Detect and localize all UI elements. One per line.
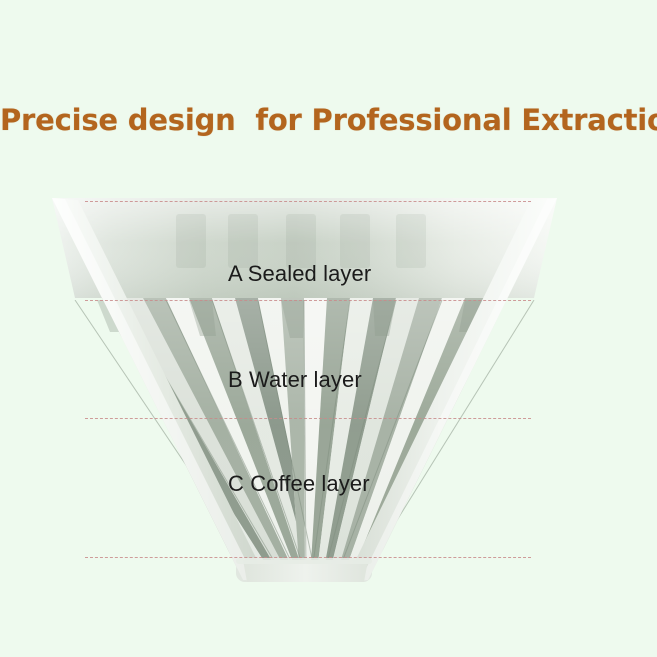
guide-line-sealed-water-boundary — [85, 300, 531, 301]
cone-graphic — [0, 0, 657, 657]
layer-label-c: C Coffee layer — [228, 471, 370, 497]
coffee-cone-illustration — [0, 0, 657, 657]
layer-label-a: A Sealed layer — [228, 261, 371, 287]
page-title: Precise design for Professional Extracti… — [0, 103, 657, 137]
guide-line-cone-base — [85, 557, 531, 558]
cone-base — [236, 558, 372, 582]
guide-line-cone-rim — [85, 201, 531, 202]
layer-label-b: B Water layer — [228, 367, 362, 393]
guide-line-water-coffee-boundary — [85, 418, 531, 419]
illustration-page: A Sealed layer B Water layer C Coffee la… — [0, 0, 657, 657]
